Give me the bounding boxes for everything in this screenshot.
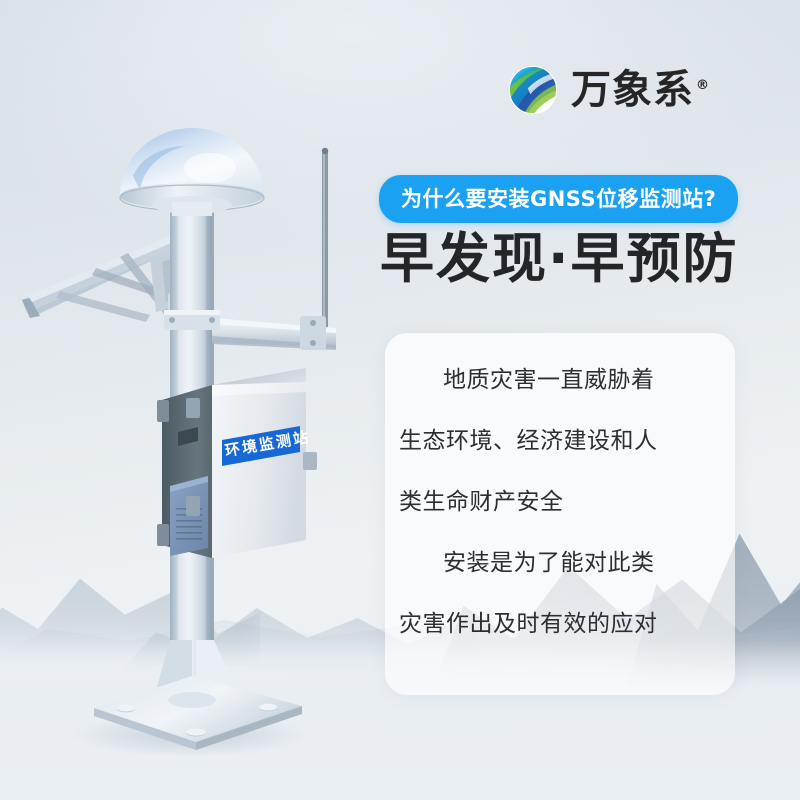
poster-canvas: 环境监测站 — [0, 0, 800, 800]
gnss-monitoring-station-illustration: 环境监测站 — [0, 0, 420, 800]
description-line: 安装是为了能对此类 — [399, 552, 721, 575]
gnss-antenna-dome — [120, 128, 264, 216]
page-title: 早发现·早预防 — [380, 228, 739, 290]
description-line: 灾害作出及时有效的应对 — [399, 613, 721, 636]
antenna-rod — [316, 148, 334, 344]
registered-trademark-icon: ® — [696, 78, 710, 93]
description-line: 地质灾害一直威胁着 — [399, 369, 721, 392]
cross-arm — [212, 316, 336, 350]
globe-swirl-logo-icon — [505, 62, 561, 118]
brand-lockup: 万象系® — [505, 62, 710, 118]
brand-name-text: 万象系 — [571, 67, 694, 113]
pole-clamp-upper — [164, 310, 220, 330]
description-panel: 地质灾害一直威胁着 生态环境、经济建设和人 类生命财产安全 安装是为了能对此类 … — [385, 333, 735, 695]
description-text-block: 地质灾害一直威胁着 生态环境、经济建设和人 类生命财产安全 安装是为了能对此类 … — [385, 333, 735, 695]
brand-name-group: 万象系® — [571, 70, 710, 110]
description-line: 生态环境、经济建设和人 — [399, 430, 721, 453]
content-column: 万象系® 为什么要安装GNSS位移监测站? 早发现·早预防 地质灾害一直威胁着 … — [360, 0, 800, 800]
question-badge: 为什么要安装GNSS位移监测站? — [379, 175, 738, 223]
description-line: 类生命财产安全 — [399, 491, 721, 514]
control-box: 环境监测站 — [157, 368, 317, 558]
